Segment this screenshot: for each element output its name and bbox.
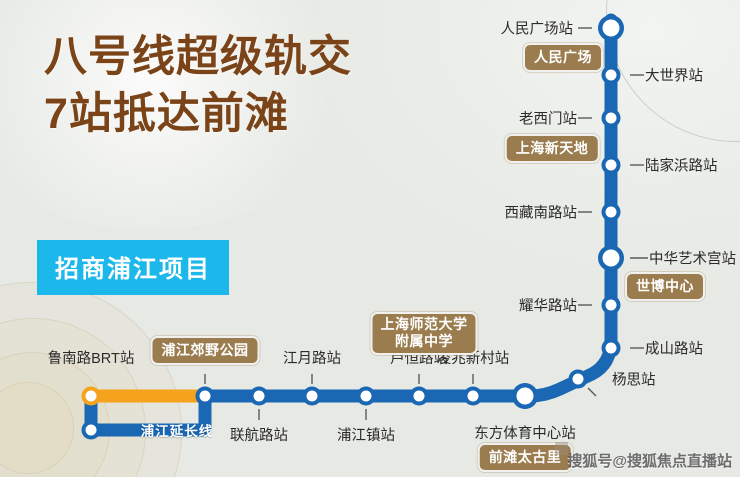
station-dot-lianhang-lu[interactable]	[250, 387, 269, 406]
station-label-pujiang-zhen: 浦江镇站	[337, 424, 395, 445]
station-dot-branch-terminus[interactable]	[82, 421, 101, 440]
station-label-dongfang-tiyu: 东方体育中心站	[474, 422, 576, 443]
station-label-lujiabang-lu: 陆家浜路站	[645, 155, 718, 176]
station-label-yaohua-lu: 耀华路站	[519, 295, 577, 316]
station-label-dashijie: 大世界站	[645, 65, 703, 86]
poi-tag-line-2: 附属中学	[381, 333, 468, 350]
station-dot-laoximen[interactable]	[602, 109, 621, 128]
station-dot-yangsi[interactable]	[569, 370, 588, 389]
station-dot-chengshan-lu[interactable]	[602, 339, 621, 358]
watermark-badge	[555, 442, 568, 455]
branch-label-pujiang-extension: 浦江延长线	[141, 420, 214, 440]
poi-tag-zhonghua-yishugong: 世博中心	[625, 272, 705, 301]
station-label-chengshan-lu: 成山路站	[645, 338, 703, 359]
station-label-laoximen: 老西门站	[519, 108, 577, 129]
watermark-text: 搜狐号@搜狐焦点直播站	[567, 450, 732, 471]
station-dot-lujiabang-lu[interactable]	[602, 156, 621, 175]
station-dot-xizang-nanlu[interactable]	[602, 203, 621, 222]
station-label-zhonghua-yishugong: 中华艺术宫站	[649, 248, 736, 269]
poi-tag-line-1: 上海师范大学	[381, 316, 468, 333]
station-dot-dashijie[interactable]	[602, 66, 621, 85]
station-label-xizang-nanlu: 西藏南路站	[505, 202, 578, 223]
station-dot-renmin-guangchang[interactable]	[598, 15, 624, 41]
poi-tag-laoximen: 上海新天地	[505, 134, 600, 163]
station-dots	[82, 15, 625, 440]
metro-line-poster: 八号线超级轨交 7站抵达前滩 招商浦江项目	[0, 0, 740, 477]
station-label-jiangyue-lu: 江月路站	[283, 347, 341, 368]
station-dot-lunan-lu-brt[interactable]	[82, 387, 101, 406]
poi-tag-renmin-guangchang: 人民广场	[523, 43, 603, 72]
station-label-yangsi: 杨思站	[612, 369, 656, 390]
poi-tag-luheng-lu: 上海师范大学附属中学	[371, 312, 478, 355]
station-dot-zhonghua-yishugong[interactable]	[598, 245, 624, 271]
station-dot-lingzhao-xincun[interactable]	[464, 387, 483, 406]
station-label-renmin-guangchang: 人民广场站	[501, 18, 574, 39]
station-dot-pujiang-zhen[interactable]	[357, 387, 376, 406]
line-paths	[91, 20, 648, 430]
metro-line-diagram	[0, 0, 740, 477]
station-dot-shendu-gonglu[interactable]	[196, 387, 215, 406]
poi-tag-shendu-gonglu: 浦江郊野公园	[151, 336, 260, 365]
station-label-lunan-lu-brt: 鲁南路BRT站	[48, 347, 135, 368]
station-label-lianhang-lu: 联航路站	[230, 424, 288, 445]
station-dot-yaohua-lu[interactable]	[602, 296, 621, 315]
station-dot-luheng-lu[interactable]	[410, 387, 429, 406]
station-dot-jiangyue-lu[interactable]	[303, 387, 322, 406]
station-dot-dongfang-tiyu[interactable]	[512, 383, 538, 409]
